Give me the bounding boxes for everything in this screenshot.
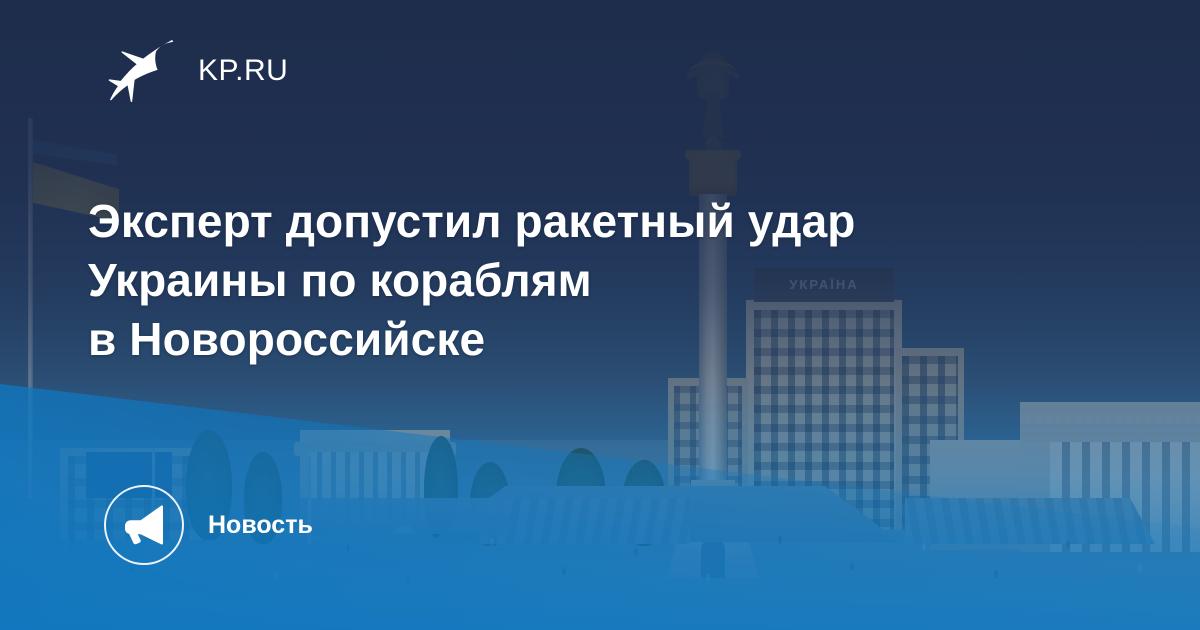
brand-name: KP.RU [198,56,288,86]
megaphone-icon-ring [104,485,184,565]
headline-line-1: Эксперт допустил ракетный удар [88,192,1088,251]
news-share-card: УКРАЇНА KP [0,0,1200,630]
status-badge[interactable]: Новость [104,485,313,565]
page-title: Эксперт допустил ракетный удар Украины п… [88,192,1088,369]
headline-line-3: в Новороссийске [88,310,1088,369]
headline-line-2: Украины по кораблям [88,251,1088,310]
brand-logo[interactable]: KP.RU [108,38,288,104]
swallow-bird-icon [108,38,176,104]
status-badge-label: Новость [208,513,313,538]
megaphone-icon [122,505,166,545]
